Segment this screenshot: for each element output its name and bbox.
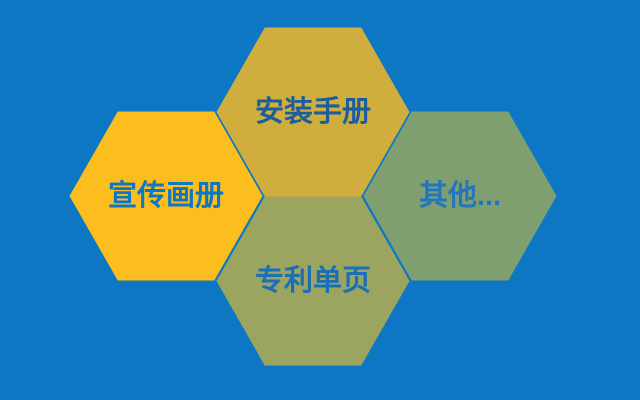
diagram-canvas: 宣传画册 安装手册 专利单页 其他...: [0, 0, 640, 400]
hexagon-xuanchuanhuace-label: 宣传画册: [108, 179, 224, 212]
hexagon-zhuanlidanye-label: 专利单页: [255, 264, 371, 297]
hexagon-qita-label: 其他...: [419, 179, 501, 212]
hexagon-anzhuangshouce-label: 安装手册: [255, 95, 371, 128]
hexagon-cluster-svg: 宣传画册 安装手册 专利单页 其他...: [0, 0, 640, 400]
